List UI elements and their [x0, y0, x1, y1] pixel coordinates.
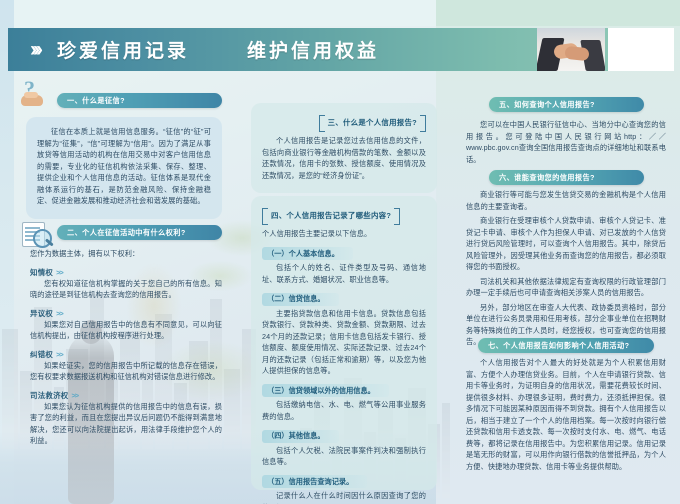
mid-item-text-0: 包括个人的姓名、证件类型及号码、通信地址、联系方式、婚姻状况、职业信息等。 — [262, 262, 426, 285]
right-section5-heading-wrap: 五、如何查询个人信用报告? — [489, 97, 644, 112]
mid-item-subhead-1: （二）信贷信息。 — [262, 293, 339, 306]
mid-section3-heading-wrap[interactable]: 三、什么是个人信用报告? — [262, 112, 426, 130]
mid-item-subhead-2: （三）信贷领域以外的信用信息。 — [262, 384, 389, 397]
right-section6-para-2: 司法机关和其他依据法律规定有查询权限的行政管理部门办理一定手续后也可申请查询相关… — [466, 276, 666, 299]
mid-item-subhead-3: （四）其他信息。 — [262, 430, 339, 443]
right-section7-body-wrap: 个人信用报告对个人最大的好处就是为个人积累信用财富、方便个人办理信贷业务。目前，… — [466, 357, 666, 475]
right-section5-heading: 五、如何查询个人信用报告? — [499, 100, 595, 110]
left-section1-heading: 一、什么是征信? — [67, 96, 125, 106]
right-item-text-2: 如果经证实，您的信用报告中所记载的信息存在错误，您有权要求数据报送机构和征信机构… — [30, 360, 222, 383]
mid-item-text-3: 包括个人欠税、法院民事案件判决和强制执行信息等。 — [262, 445, 426, 468]
mid-item-subhead-4: （五）信用报告查询记录。 — [262, 475, 367, 488]
arrow-icon-1: >> — [56, 309, 63, 318]
background-top-band-left — [0, 0, 436, 26]
mid-item-text-4: 记录什么人在什么时间因什么原因查询了您的信用记录。 — [262, 490, 426, 504]
heading-who-can-query-report[interactable]: 六、谁能查询您的信用报告? — [489, 170, 644, 185]
left-section2-body: 您作为数据主体，拥有以下权利： 知情权>> 您有权知道征信机构掌握的关于您自己的… — [30, 248, 222, 450]
right-item-label-0: 知情权>> — [30, 267, 222, 278]
mid-item-subhead-0: （一）个人基本信息。 — [262, 247, 353, 260]
right-label-text-1: 异议权 — [30, 309, 53, 318]
handshake-photo — [537, 28, 605, 71]
mid-section4-heading: 四、个人信用报告记录了哪些内容? — [262, 208, 400, 223]
right-item-label-2: 纠错权>> — [30, 349, 222, 360]
right-section6-body-wrap: 商业银行等可能与您发生信贷交易的金融机构是个人信用信息的主要查询者。 商业银行在… — [466, 189, 666, 351]
right-label-text-3: 司法救济权 — [30, 391, 68, 400]
mid-item-text-2: 包括缴纳电信、水、电、燃气等公用事业服务费的信息。 — [262, 399, 426, 422]
left-section2-heading-wrap: 二、个人在征信活动中有什么权利? — [57, 225, 222, 240]
chevron-right-icon: ››› — [30, 39, 39, 60]
header-banner: ››› 珍爱信用记录 维护信用权益 — [8, 28, 628, 71]
sidebar-heading-what-is-credit[interactable]: 一、什么是征信? — [57, 93, 222, 108]
left-section1-panel: 征信在本质上就是信用信息服务。“征信”的“征”可理解为“征集”，“信”可理解为“… — [26, 117, 222, 219]
heading-impact-on-credit-activity[interactable]: 七、个人信用报告如何影响个人信用活动? — [478, 338, 654, 353]
arrow-icon-0: >> — [56, 268, 63, 277]
right-item-label-3: 司法救济权>> — [30, 390, 222, 401]
mid-section4-panel: 四、个人信用报告记录了哪些内容? 个人信用报告主要记录以下信息。 （一）个人基本… — [251, 196, 437, 490]
right-item-text-0: 您有权知道征信机构掌握的关于您自己的所有信息。知晓的途径是到征信机构去查询您的信… — [30, 278, 222, 301]
mid-section3-panel: 三、什么是个人信用报告? 个人信用报告是记录您过去信用信息的文件，包括向商业银行… — [251, 103, 437, 193]
right-label-text-2: 纠错权 — [30, 350, 53, 359]
right-label-text-0: 知情权 — [30, 268, 53, 277]
magnifier-document-icon — [20, 221, 54, 247]
mid-section3-body: 个人信用报告是记录您过去信用信息的文件，包括向商业银行等金融机构借款的笔数、金额… — [262, 135, 426, 181]
right-section5-body-wrap: 您可以在中国人民银行征信中心、当地分中心查询您的信用报告。您可登陆中国人民银行网… — [466, 119, 666, 168]
mid-section3-heading: 三、什么是个人信用报告? — [319, 115, 426, 130]
chevron-glyphs: ››› — [30, 39, 39, 60]
left-section2-intro: 您作为数据主体，拥有以下权利： — [30, 248, 222, 260]
mid-item-text-1: 主要指贷款信息和信用卡信息。贷款信息包括贷款银行、贷款种类、贷款金额、贷款期限、… — [262, 308, 426, 377]
sidebar-heading-personal-rights[interactable]: 二、个人在征信活动中有什么权利? — [57, 225, 222, 240]
header-title-right: 维护信用权益 — [247, 36, 379, 63]
heading-how-to-query-report[interactable]: 五、如何查询个人信用报告? — [489, 97, 644, 112]
question-hand-icon: ? — [20, 78, 54, 108]
right-section6-heading: 六、谁能查询您的信用报告? — [499, 173, 595, 183]
background-top-band-right — [436, 0, 680, 26]
right-item-text-3: 如果您认为征信机构提供的信用报告中的信息有误，损害了您的利益，而且在您提出异议后… — [30, 401, 222, 447]
left-section2-heading: 二、个人在征信活动中有什么权利? — [67, 228, 186, 238]
right-section6-heading-wrap: 六、谁能查询您的信用报告? — [489, 170, 644, 185]
right-section7-heading: 七、个人信用报告如何影响个人信用活动? — [488, 341, 629, 351]
left-section1-body: 征信在本质上就是信用信息服务。“征信”的“征”可理解为“征集”，“信”可理解为“… — [37, 126, 211, 207]
right-section5-body: 您可以在中国人民银行征信中心、当地分中心查询您的信用报告。您可登陆中国人民银行网… — [466, 119, 666, 165]
right-item-label-1: 异议权>> — [30, 308, 222, 319]
photo-white-block — [608, 28, 674, 71]
mid-section4-heading-wrap[interactable]: 四、个人信用报告记录了哪些内容? — [262, 205, 426, 223]
mid-section4-intro: 个人信用报告主要记录以下信息。 — [262, 228, 426, 240]
arrow-icon-2: >> — [56, 350, 63, 359]
right-section6-para-1: 商业银行在受理审核个人贷款申请、审核个人贷记卡、准贷记卡申请、审核个人作为担保人… — [466, 215, 666, 273]
right-section7-body: 个人信用报告对个人最大的好处就是为个人积累信用财富、方便个人办理信贷业务。目前，… — [466, 357, 666, 472]
right-item-text-1: 如果您对自己信用报告中的信息有不同意见，可以向征信机构提出，由征信机构按程序进行… — [30, 319, 222, 342]
poster-root: ››› 珍爱信用记录 维护信用权益 ? 一、什么是征信? 征信在本质上就是信用信… — [0, 0, 680, 504]
header-title-left: 珍爱信用记录 — [57, 36, 189, 63]
right-section7-heading-wrap: 七、个人信用报告如何影响个人信用活动? — [478, 338, 654, 353]
arrow-icon-3: >> — [71, 391, 78, 400]
left-section1-heading-wrap: 一、什么是征信? — [57, 93, 222, 108]
right-section6-para-0: 商业银行等可能与您发生信贷交易的金融机构是个人信用信息的主要查询者。 — [466, 189, 666, 212]
